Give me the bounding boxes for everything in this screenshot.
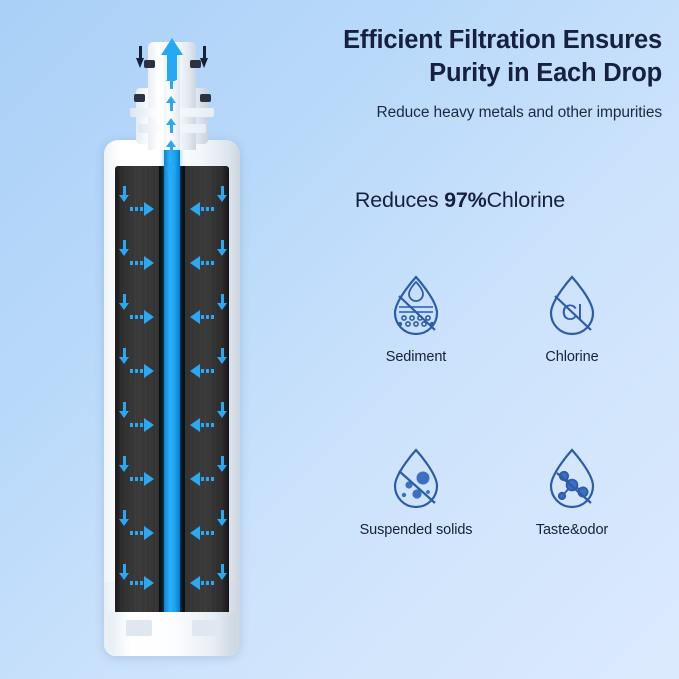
filter-port-seal xyxy=(190,60,201,68)
benefit-suspended-solids: Suspended solids xyxy=(338,445,494,540)
benefit-sediment: Sediment xyxy=(338,272,494,367)
benefit-chlorine: Cl Chlorine xyxy=(494,272,650,367)
headline-line-1: Efficient Filtration Ensures xyxy=(258,24,662,57)
benefit-taste-odor: Taste&odor xyxy=(494,445,650,540)
claim-percent: 97% xyxy=(444,188,486,212)
benefit-label: Sediment xyxy=(338,348,494,367)
center-water-channel xyxy=(164,148,180,620)
chlorine-droplet-icon: Cl xyxy=(541,272,603,338)
claim-prefix: Reduces xyxy=(355,188,444,212)
headline-line-2: Purity in Each Drop xyxy=(258,57,662,90)
filter-port-seal xyxy=(200,94,211,102)
product-infographic: Efficient Filtration Ensures Purity in E… xyxy=(0,0,679,679)
sediment-droplet-icon xyxy=(385,272,447,338)
subheadline: Reduce heavy metals and other impurities xyxy=(258,104,662,122)
benefit-label: Taste&odor xyxy=(494,521,650,540)
filter-port-seal xyxy=(144,60,155,68)
unfiltered-water-inlet-arrow xyxy=(200,46,209,68)
water-filter-cutaway-illustration xyxy=(86,16,258,656)
headline-block: Efficient Filtration Ensures Purity in E… xyxy=(258,24,662,122)
filter-riser-tube xyxy=(164,50,180,150)
suspended-solids-droplet-icon xyxy=(385,445,447,511)
taste-odor-droplet-icon xyxy=(541,445,603,511)
channel-wall-right xyxy=(180,166,185,614)
benefit-label: Suspended solids xyxy=(338,521,494,540)
filter-port-seal xyxy=(134,94,145,102)
benefit-icon-grid: Sediment Cl Chlorine xyxy=(338,272,650,539)
benefit-label: Chlorine xyxy=(494,348,650,367)
reduction-claim: Reduces 97%Chlorine xyxy=(258,188,662,213)
filter-base-slot xyxy=(126,620,152,636)
claim-suffix: Chlorine xyxy=(487,188,565,212)
filter-base-slot xyxy=(192,620,218,636)
page-title: Efficient Filtration Ensures Purity in E… xyxy=(258,24,662,90)
